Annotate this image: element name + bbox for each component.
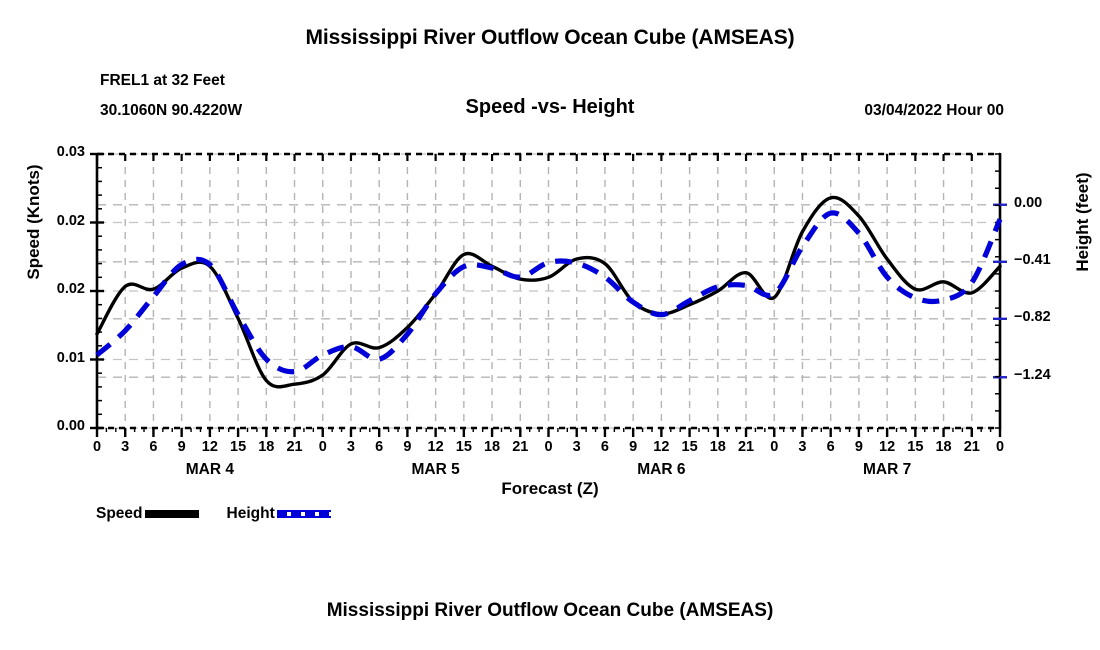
gridlines — [97, 154, 1000, 428]
y-tick-label-right: −0.41 — [1014, 252, 1084, 268]
legend-item-height: Height — [227, 505, 359, 523]
x-axis-day-label: MAR 5 — [386, 461, 486, 479]
footer-title: Mississippi River Outflow Ocean Cube (AM… — [0, 600, 1100, 622]
y-tick-label-left: 0.00 — [1, 418, 85, 434]
chart-figure: Mississippi River Outflow Ocean Cube (AM… — [0, 0, 1100, 650]
legend-label-speed: Speed — [96, 505, 143, 523]
y-tick-label-right: 0.00 — [1014, 195, 1084, 211]
x-axis-day-label: MAR 6 — [611, 461, 711, 479]
y-tick-label-left: 0.02 — [1, 281, 85, 297]
y-tick-label-right: −0.82 — [1014, 309, 1084, 325]
y-tick-label-right: −1.24 — [1014, 367, 1084, 383]
y-tick-label-left: 0.02 — [1, 213, 85, 229]
legend-item-speed: Speed — [96, 505, 227, 523]
chart-legend: Speed Height — [96, 505, 359, 523]
plot-area — [0, 0, 1100, 650]
x-tick-label: 0 — [980, 439, 1020, 455]
x-axis-day-label: MAR 4 — [160, 461, 260, 479]
legend-label-height: Height — [227, 505, 275, 523]
x-axis-day-label: MAR 7 — [837, 461, 937, 479]
y-tick-label-left: 0.03 — [1, 144, 85, 160]
y-tick-label-left: 0.01 — [1, 350, 85, 366]
legend-swatch-speed-line-icon — [145, 510, 199, 518]
legend-swatch-height-line-icon — [277, 510, 331, 518]
